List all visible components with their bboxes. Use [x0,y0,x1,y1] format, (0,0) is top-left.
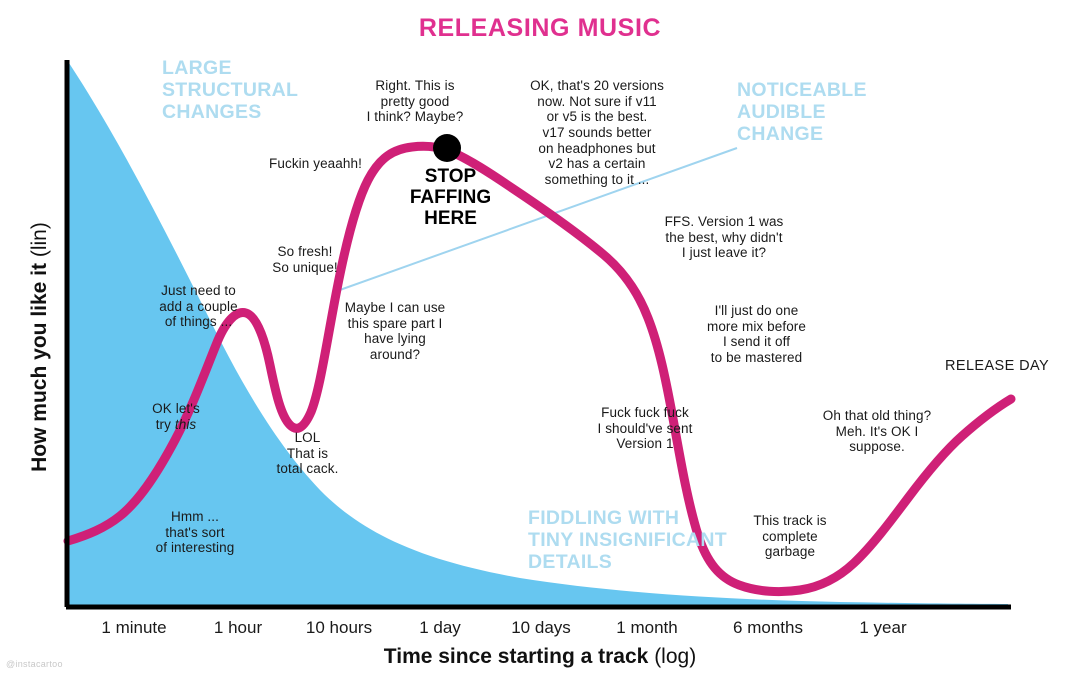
annotation-maybe-spare-part: Maybe I can use this spare part I have l… [335,300,455,363]
annotation-lol-total-cack: LOL That is total cack. [255,430,360,477]
annotation-right-pretty-good: Right. This is pretty good I think? Mayb… [345,78,485,125]
annotation-hmm-interesting: Hmm ... that's sort of interesting [120,509,270,556]
x-tick-10-days: 10 days [511,618,571,638]
y-axis-label: How much you like it (lin) [28,157,52,537]
y-axis-label-scale: (lin) [28,222,51,257]
x-tick-10-hours: 10 hours [306,618,372,638]
annotation-fuckin-yeaahh: Fuckin yeaahh! [258,156,373,172]
x-tick-1-day: 1 day [419,618,461,638]
x-tick-1-minute: 1 minute [101,618,166,638]
stop-faffing-marker-dot [433,134,461,162]
zone-label-large-structural-changes: LARGE STRUCTURAL CHANGES [162,58,298,123]
annotation-ffs-version-1: FFS. Version 1 was the best, why didn't … [650,214,798,261]
annotation-ok-lets-try-this: OK let's try this [122,401,230,432]
x-tick-1-month: 1 month [616,618,677,638]
annotation-complete-garbage: This track is complete garbage [735,513,845,560]
zone-label-fiddling-with-tiny-insignificant-details: FIDDLING WITH TINY INSIGNIFICANT DETAILS [528,508,727,573]
stop-faffing-here-label: STOP FAFFING HERE [398,167,503,230]
y-axis-label-main: How much you like it [28,257,51,472]
x-axis-label-main: Time since starting a track [384,645,654,668]
annotation-ok-lets-try-this-emphasis: this [175,417,196,432]
x-axis-tick-labels: 1 minute 1 hour 10 hours 1 day 10 days 1… [66,618,1010,642]
annotation-one-more-mix: I'll just do one more mix before I send … [694,303,819,366]
release-day-label: RELEASE DAY [945,358,1049,374]
annotation-just-need-add-couple: Just need to add a couple of things ... [131,283,266,330]
annotation-oh-that-old-thing: Oh that old thing? Meh. It's OK I suppos… [812,408,942,455]
annotation-so-fresh-so-unique: So fresh! So unique! [250,244,360,275]
x-axis-label-scale: (log) [654,645,696,668]
zone-label-noticeable-audible-change: NOTICEABLE AUDIBLE CHANGE [737,80,867,145]
x-tick-1-year: 1 year [859,618,906,638]
x-axis-label: Time since starting a track (log) [0,645,1080,669]
annotation-ok-20-versions: OK, that's 20 versions now. Not sure if … [508,78,686,188]
chart-canvas: RELEASING MUSIC LARGE STRUCTURAL CHANGES… [0,0,1080,682]
x-tick-6-months: 6 months [733,618,803,638]
watermark: @instacartoo [6,659,63,669]
x-tick-1-hour: 1 hour [214,618,262,638]
annotation-should-have-sent-v1: Fuck fuck fuck I should've sent Version … [575,405,715,452]
